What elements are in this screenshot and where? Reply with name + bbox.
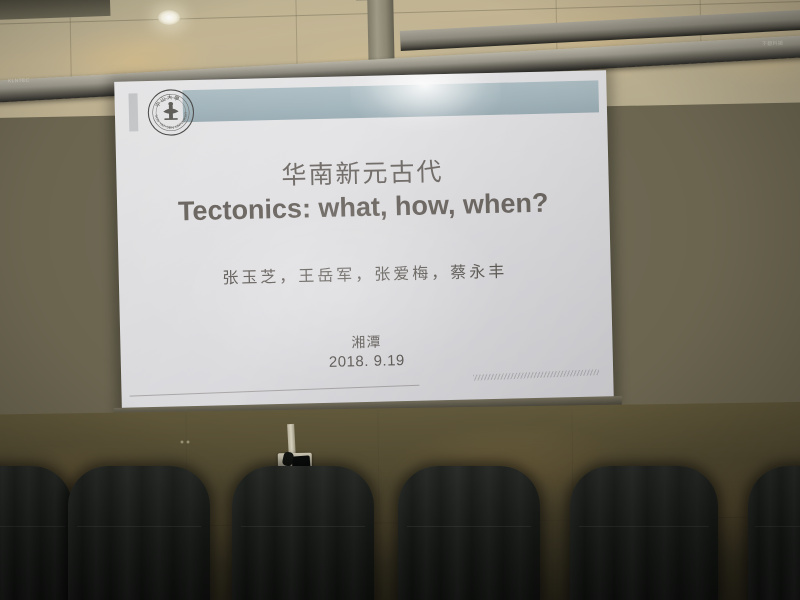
slide-surface: 中山大學 SUN YAT-SEN UNIVERSITY 华南新元古代 Tecto… (114, 70, 614, 411)
auditorium-chair[interactable] (232, 466, 374, 600)
slide-divider-line (130, 385, 420, 397)
slide-decorative-hatch (473, 369, 599, 381)
auditorium-chair[interactable] (748, 466, 800, 600)
auditorium-chair[interactable] (398, 466, 540, 600)
wall-plaque-right: 不翻料搬 (762, 40, 783, 48)
projection-screen: 中山大學 SUN YAT-SEN UNIVERSITY 华南新元古代 Tecto… (114, 70, 614, 411)
wall-marker-dots (180, 440, 190, 444)
auditorium-chair[interactable] (68, 466, 210, 600)
conference-room-scene: KLNTEC 不翻料搬 中山大學 SUN YAT-SEN (0, 0, 800, 600)
wall-plaque-left: KLNTEC (8, 78, 30, 85)
slide-author-list: 张玉芝，王岳军，张爱梅，蔡永丰 (119, 255, 611, 291)
slide-content: 华南新元古代 Tectonics: what, how, when? 张玉芝，王… (114, 70, 614, 411)
auditorium-chair[interactable] (570, 466, 718, 600)
ceiling-downlight-icon (158, 10, 180, 25)
auditorium-chair[interactable] (0, 466, 72, 600)
